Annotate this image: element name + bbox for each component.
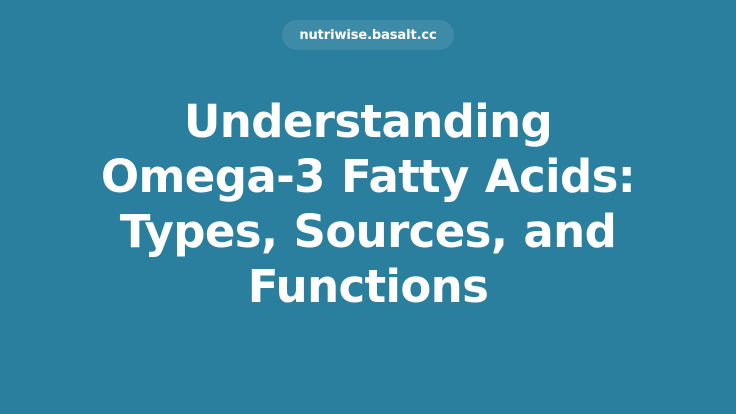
title-line-1: Understanding	[88, 94, 648, 149]
badge-row: nutriwise.basalt.cc	[0, 20, 736, 50]
headline-wrap: Understanding Omega-3 Fatty Acids: Types…	[0, 94, 736, 314]
title-line-4: Functions	[88, 259, 648, 314]
title-card: nutriwise.basalt.cc Understanding Omega-…	[0, 0, 736, 414]
title-line-2: Omega-3 Fatty Acids:	[88, 149, 648, 204]
page-title: Understanding Omega-3 Fatty Acids: Types…	[88, 94, 648, 314]
title-line-3: Types, Sources, and	[88, 204, 648, 259]
domain-badge[interactable]: nutriwise.basalt.cc	[282, 20, 453, 50]
